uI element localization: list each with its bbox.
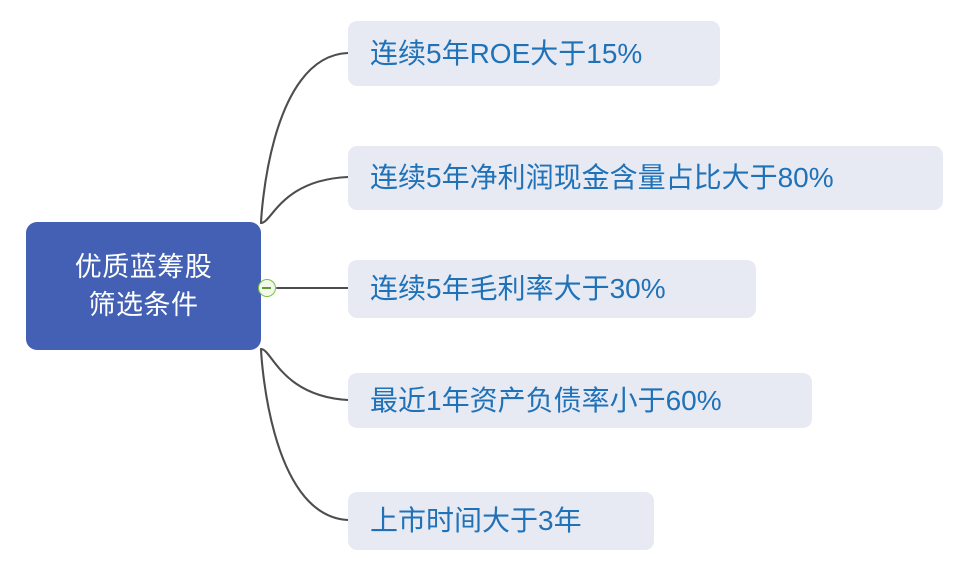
branch-node-1[interactable]: 连续5年净利润现金含量占比大于80% xyxy=(348,146,943,210)
root-node[interactable]: 优质蓝筹股 筛选条件 xyxy=(26,222,261,350)
branch-node-0[interactable]: 连续5年ROE大于15% xyxy=(348,21,720,86)
connector-to-branch-3 xyxy=(261,349,348,400)
branch-node-3[interactable]: 最近1年资产负债率小于60% xyxy=(348,373,812,428)
branch-node-label: 连续5年ROE大于15% xyxy=(370,37,642,71)
minus-circle-icon[interactable] xyxy=(258,279,276,297)
branch-node-4[interactable]: 上市时间大于3年 xyxy=(348,492,654,550)
mindmap-canvas: 优质蓝筹股 筛选条件 连续5年ROE大于15% 连续5年净利润现金含量占比大于8… xyxy=(0,0,968,568)
branch-node-2[interactable]: 连续5年毛利率大于30% xyxy=(348,260,756,318)
branch-node-label: 上市时间大于3年 xyxy=(370,504,582,538)
connector-to-branch-4 xyxy=(261,349,348,520)
branch-node-label: 连续5年毛利率大于30% xyxy=(370,272,666,306)
branch-node-label: 连续5年净利润现金含量占比大于80% xyxy=(370,161,834,195)
root-node-label: 优质蓝筹股 筛选条件 xyxy=(75,248,213,325)
branch-node-label: 最近1年资产负债率小于60% xyxy=(370,384,722,418)
connector-to-branch-0 xyxy=(261,53,348,223)
connector-to-branch-1 xyxy=(261,177,348,223)
